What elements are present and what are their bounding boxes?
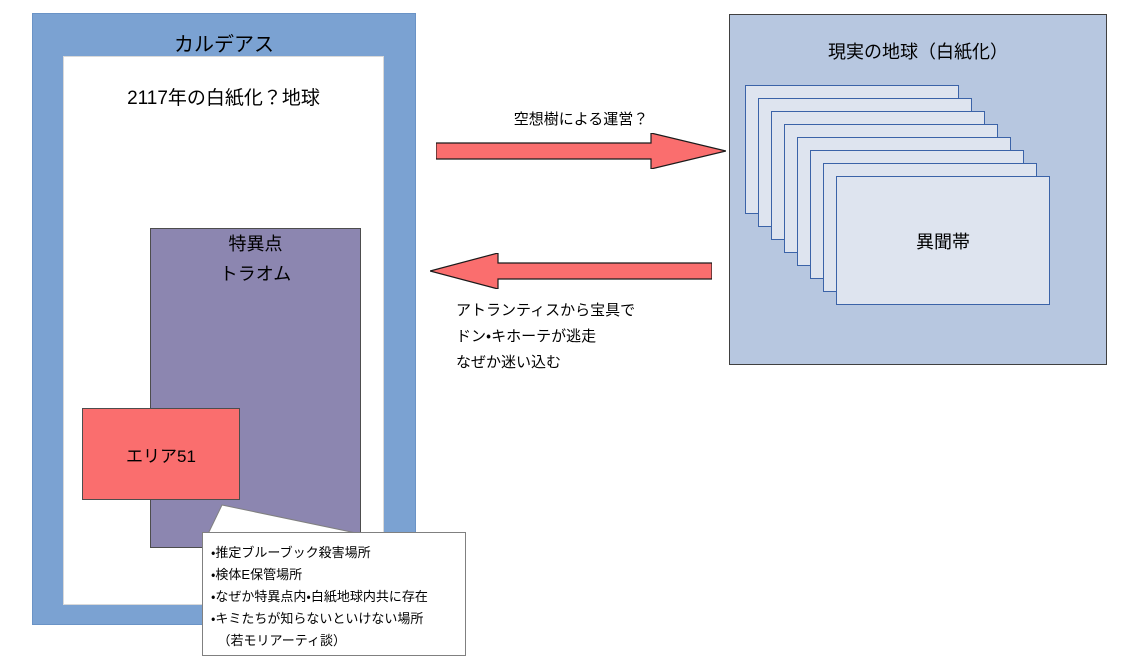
callout-box: ・推定ブルーブック殺害場所 ・検体E保管場所 ・なぜか特異点内・白紙地球内共に存… bbox=[202, 532, 466, 656]
area51-label: エリア51 bbox=[126, 442, 196, 467]
left-arrow-label-line: ドン・キホーテが逃走 bbox=[456, 324, 756, 350]
left-arrow-label-line: アトランティスから宝具で bbox=[456, 298, 756, 324]
callout-line: ・なぜか特異点内・白紙地球内共に存在 bbox=[211, 586, 465, 608]
lostbelt-card-label: 異聞帯 bbox=[837, 228, 1049, 254]
blank-earth-title: 2117年の白紙化？地球 bbox=[63, 87, 384, 111]
callout-line: ・推定ブルーブック殺害場所 bbox=[211, 542, 465, 564]
right-arrow-label: 空想樹による運営？ bbox=[436, 110, 726, 130]
singularity-label-line1: 特異点 bbox=[150, 229, 361, 259]
left-arrow-label-line: なぜか迷い込む bbox=[456, 350, 756, 376]
lostbelt-card: 異聞帯 bbox=[836, 176, 1050, 305]
callout-line: ・キミたちが知らないといけない場所 bbox=[211, 608, 465, 630]
real-earth-panel: 異聞帯 bbox=[729, 14, 1107, 365]
area51-box: エリア51 bbox=[82, 408, 240, 500]
singularity-label-line2: トラオム bbox=[150, 259, 361, 289]
callout-line: ・検体E保管場所 bbox=[211, 564, 465, 586]
left-arrow-label: アトランティスから宝具で ドン・キホーテが逃走 なぜか迷い込む bbox=[456, 298, 756, 376]
singularity-labels: 特異点 トラオム bbox=[150, 229, 361, 289]
chaldeas-title: カルデアス bbox=[32, 33, 416, 57]
real-earth-title: 現実の地球（白紙化） bbox=[729, 40, 1107, 64]
callout-line: （若モリアーティ談） bbox=[211, 630, 465, 652]
left-arrow-icon bbox=[430, 253, 712, 289]
right-arrow-icon bbox=[436, 133, 726, 169]
